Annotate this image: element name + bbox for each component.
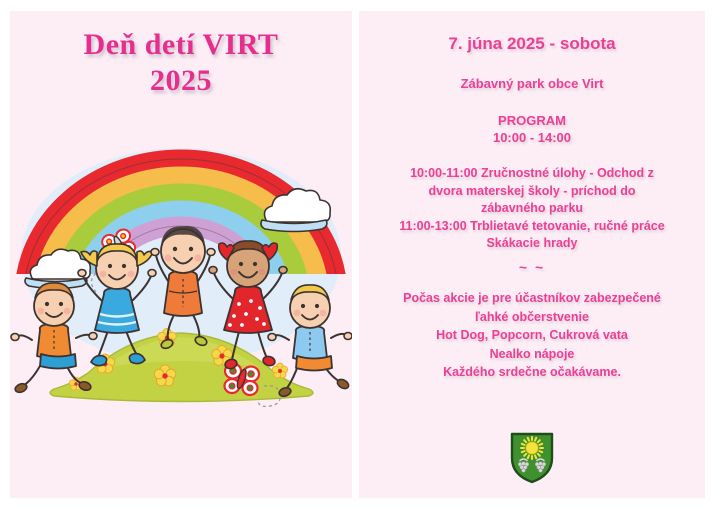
refreshments-line-2: Hot Dog, Popcorn, Cukrová vata xyxy=(359,326,705,345)
program-item-4: Skákacie hrady xyxy=(359,235,705,253)
program-item-0: 10:00-11:00 Zručnostné úlohy - Odchod z xyxy=(359,165,705,183)
program-item-3: 11:00-13:00 Trblietavé tetovanie, ručné … xyxy=(359,218,705,236)
refreshments-line-1: ľahké občerstvenie xyxy=(359,308,705,327)
children-rainbow-illustration xyxy=(10,106,352,416)
program-heading-line-0: PROGRAM xyxy=(359,112,705,129)
program-item-1: dvora materskej školy - príchod do xyxy=(359,183,705,201)
program-list: 10:00-11:00 Zručnostné úlohy - Odchod z … xyxy=(359,165,705,253)
sun-charge xyxy=(521,437,543,459)
program-heading-line-1: 10:00 - 14:00 xyxy=(359,129,705,146)
refreshments-line-3: Nealko nápoje xyxy=(359,345,705,364)
refreshments-line-0: Počas akcie je pre účastníkov zabezpečen… xyxy=(359,289,705,308)
program-heading: PROGRAM 10:00 - 14:00 xyxy=(359,112,705,146)
refreshments-line-4: Každého srdečne očakávame. xyxy=(359,363,705,382)
refreshments-info: Počas akcie je pre účastníkov zabezpečen… xyxy=(359,289,705,382)
title-line-2: 2025 xyxy=(10,63,352,99)
left-panel: Deň detí VIRT 2025 xyxy=(10,11,352,498)
coat-of-arms-container xyxy=(359,432,705,489)
program-item-2: zábavného parku xyxy=(359,200,705,218)
title-line-1: Deň detí VIRT xyxy=(84,28,279,61)
virt-coat-of-arms xyxy=(510,432,554,484)
right-panel: 7. júna 2025 - sobota Zábavný park obce … xyxy=(359,11,705,498)
panel-divider xyxy=(352,11,359,498)
poster-canvas: Deň detí VIRT 2025 xyxy=(10,11,705,498)
page-title: Deň detí VIRT 2025 xyxy=(10,27,352,99)
event-date: 7. júna 2025 - sobota xyxy=(359,33,705,54)
text-separator: ~ ~ xyxy=(359,259,705,275)
event-venue: Zábavný park obce Virt xyxy=(359,75,705,92)
